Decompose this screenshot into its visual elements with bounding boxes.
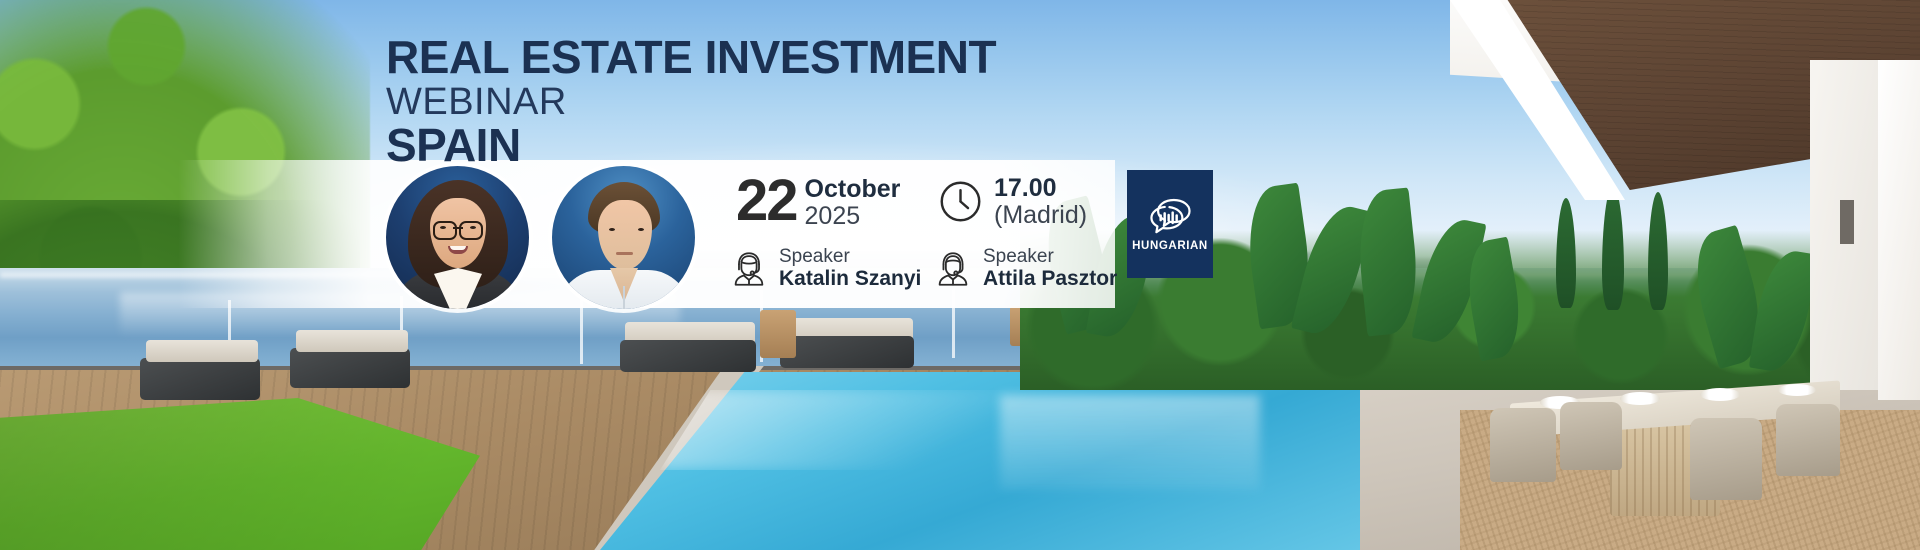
glasses-icon <box>433 221 483 236</box>
speech-bubbles-audio-icon <box>1145 196 1195 236</box>
event-time: 17.00 (Madrid) <box>938 175 1087 230</box>
side-table <box>760 310 796 358</box>
headline-line-3: SPAIN <box>386 122 996 168</box>
event-year: 2025 <box>805 203 901 231</box>
speaker-2-name: Attila Pasztor <box>983 267 1117 291</box>
portrait-mouth <box>616 252 633 255</box>
event-month: October <box>805 177 901 203</box>
speaker-headset-male-icon <box>932 248 974 290</box>
sun-lounger <box>140 358 260 400</box>
dinner-plate <box>1778 384 1816 396</box>
speaker-portrait-attila-pasztor <box>552 166 695 309</box>
sun-lounger <box>620 340 756 372</box>
dining-chair <box>1560 402 1622 470</box>
speaker-2: Speaker Attila Pasztor <box>932 246 1117 291</box>
speaker-headset-female-icon <box>728 248 770 290</box>
webinar-promo-banner: REAL ESTATE INVESTMENT WEBINAR SPAIN 22 … <box>0 0 1920 550</box>
wall-lamp <box>1840 200 1854 244</box>
dining-chair <box>1690 418 1762 500</box>
villa-column <box>1878 60 1920 400</box>
headline-line-1: REAL ESTATE INVESTMENT <box>386 34 996 80</box>
event-time-timezone: (Madrid) <box>994 201 1087 230</box>
event-date: 22 October 2025 <box>736 174 900 230</box>
dinner-plate <box>1700 388 1740 401</box>
page-title: REAL ESTATE INVESTMENT WEBINAR SPAIN <box>386 34 996 168</box>
dinner-plate <box>1620 392 1660 405</box>
event-time-value: 17.00 <box>994 175 1087 201</box>
language-badge-label: HUNGARIAN <box>1132 240 1208 252</box>
speaker-1-role: Speaker <box>779 246 921 267</box>
speaker-2-role: Speaker <box>983 246 1117 267</box>
dining-chair <box>1490 408 1556 482</box>
portrait-teeth <box>450 246 466 250</box>
speaker-1-name: Katalin Szanyi <box>779 267 921 291</box>
portrait-shirt-seam <box>623 286 625 309</box>
pool-reflection <box>1000 395 1260 490</box>
sun-lounger <box>780 336 914 368</box>
lounger-cushion <box>146 340 258 362</box>
sun-lounger <box>290 348 410 388</box>
lounger-cushion <box>296 330 408 352</box>
portrait-eye-left <box>609 228 615 231</box>
headline-line-2: WEBINAR <box>386 83 996 121</box>
speaker-portrait-katalin-szanyi <box>386 166 529 309</box>
clock-icon <box>938 179 983 224</box>
portrait-eye-right <box>638 228 644 231</box>
dining-chair <box>1776 404 1840 476</box>
event-day: 22 <box>736 174 797 227</box>
speaker-1: Speaker Katalin Szanyi <box>728 246 921 291</box>
language-badge: HUNGARIAN <box>1127 170 1213 278</box>
